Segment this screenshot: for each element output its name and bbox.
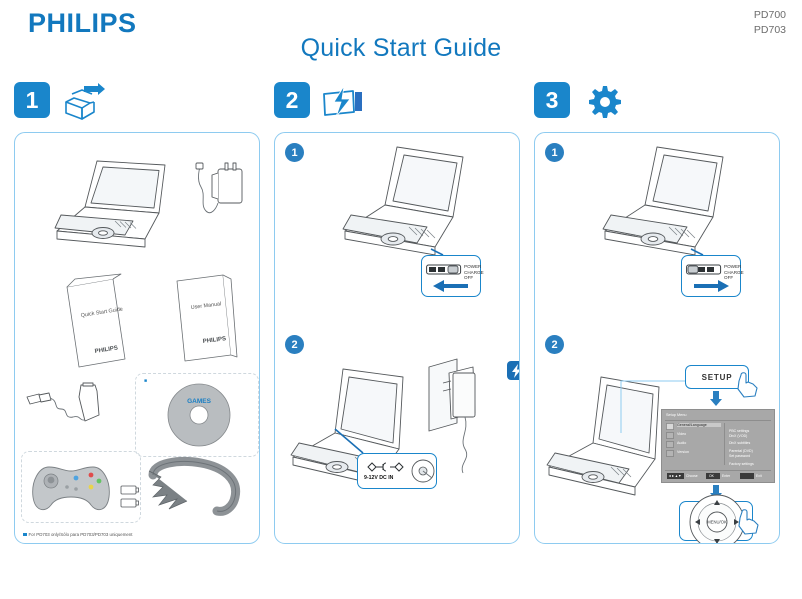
step-2-substep-2-badge: 2 [285,335,304,354]
wall-outlet-adapter-illustration [425,355,509,475]
car-adapter-cable-illustration [23,381,119,443]
power-switch-icon [426,264,462,276]
power-switch-callout: POWER CHARGE OFF [421,255,481,297]
osd-left-item-2[interactable]: Audio [677,441,686,445]
osd-key-0-glyph: ◄►▲▼ [668,474,681,478]
step-2-header: 2 [274,82,522,128]
osd-column-divider [724,423,725,465]
aa-batteries-illustration [119,483,145,517]
arrow-right-icon [692,279,730,293]
disc-label: GAMES [187,398,212,405]
user-manual-booklet-illustration: User Manual PHILIPS [165,267,249,363]
osd-bottom-rule [665,470,771,471]
arrow-down-icon [709,391,723,407]
osd-key-1-glyph: OK [709,474,714,478]
page-title: Quick Start Guide [0,34,802,63]
battery-charge-icon [320,82,366,120]
osd-right-item-1[interactable]: DivX (VOD) [729,434,747,438]
lightning-bolt-badge [507,361,520,380]
dc-polarity-icon [364,460,414,474]
hand-pointer-icon [735,371,761,399]
setup-menu-osd: Setup Menu General/Language Video Audio … [661,409,775,483]
callout-leader-line [333,427,373,459]
step-3-panel: 1 [534,132,780,544]
model-number-1: PD700 [754,8,786,23]
step-1-panel: Quick Start Guide PHILIPS User Manual PH… [14,132,260,544]
footnote-marker-disc: ■ [144,378,147,384]
step-2-column: 2 1 [274,82,522,128]
dc-in-label: 9-12V DC IN [364,475,393,481]
hand-pointer-icon [736,508,762,536]
step-3-substep-2-badge: 2 [545,335,564,354]
osd-title: Setup Menu [666,413,686,417]
step-1-badge: 1 [14,82,50,118]
lightning-bolt-icon [511,364,521,378]
osd-left-item-1[interactable]: Video [677,432,686,436]
osd-key-2-chip [740,473,754,479]
ac-power-adapter-illustration [190,161,248,235]
step-1-header: 1 [14,82,262,128]
arrow-left-icon [432,279,470,293]
osd-right-item-5[interactable]: Factory settings [729,462,754,466]
headrest-mount-strap-illustration [143,457,249,521]
osd-key-2-label: Exit [756,474,762,478]
osd-key-0-label: Choose [686,474,698,478]
footnote-pd703: For PD703 only/Sólo para PD703/PD703 uni… [23,532,132,537]
power-switch-callout: POWER CHARGE OFF [681,255,741,297]
osd-right-item-3[interactable]: Parental (DVD) [729,449,753,453]
osd-title-rule [665,420,771,421]
step-1-column: 1 [14,82,262,128]
open-box-icon [60,82,106,120]
step-3-header: 3 [534,82,782,128]
osd-key-1-label: Enter [722,474,730,478]
osd-right-item-4[interactable]: Set password [729,454,750,458]
step-3-substep-1-badge: 1 [545,143,564,162]
quick-start-guide-booklet-illustration: Quick Start Guide PHILIPS [51,273,135,369]
power-switch-icon [686,264,722,276]
step-2-substep-1-badge: 1 [285,143,304,162]
dc-jack-icon [410,458,436,484]
gear-icon [580,82,626,120]
step-2-panel: 1 [274,132,520,544]
navpad-center-label: MENU/OK [707,520,727,525]
osd-right-item-2[interactable]: DivX subtitles [729,441,750,445]
step-3-column: 3 1 [534,82,782,128]
navigation-pad-callout: MENU/OK [679,501,753,541]
osd-left-item-3[interactable]: Version [677,450,689,454]
footnote-marker-icon [23,533,27,537]
step-2-badge: 2 [274,82,310,118]
quick-start-guide-page: PHILIPS PD700 PD703 Quick Start Guide 1 [0,0,802,599]
osd-item-icons [666,423,675,461]
step-3-badge: 3 [534,82,570,118]
game-controller-illustration [29,459,133,517]
osd-right-item-0[interactable]: PBC settings [729,429,749,433]
osd-left-item-0[interactable]: General/Language [677,423,721,427]
dvd-player-illustration [37,155,207,265]
games-disc-illustration: GAMES [163,379,235,451]
